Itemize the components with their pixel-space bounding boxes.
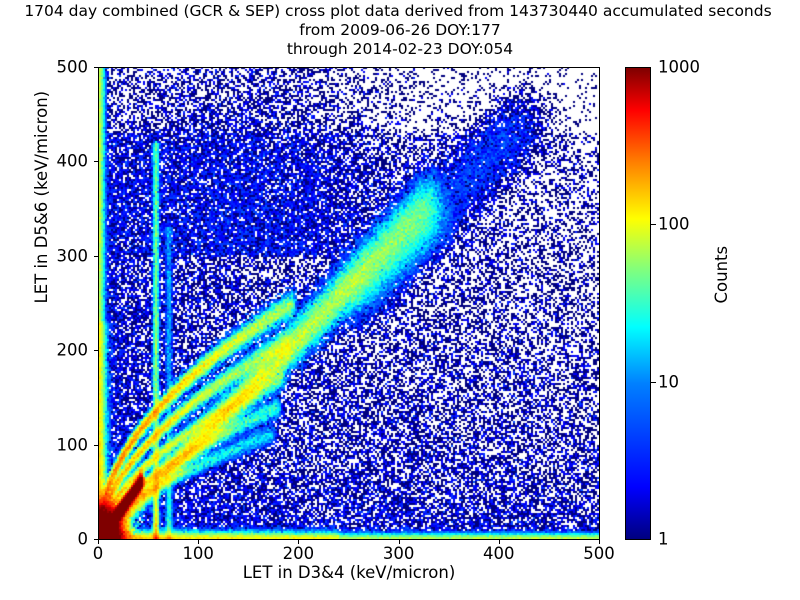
y-axis-label: LET in D5&6 (keV/micron)	[32, 91, 51, 304]
colorbar-tick-label: 100	[658, 215, 690, 234]
y-tick-mark	[94, 161, 99, 162]
title-line-2: from 2009-06-26 DOY:177	[0, 21, 800, 40]
x-tick-label: 500	[583, 544, 615, 563]
colorbar-tick-mark	[651, 224, 656, 225]
plot-area	[98, 67, 600, 540]
title-line-1: 1704 day combined (GCR & SEP) cross plot…	[0, 2, 800, 21]
colorbar-tick-mark	[651, 382, 656, 383]
y-tick-label: 200	[0, 341, 88, 360]
colorbar-tick-label: 10	[658, 372, 679, 391]
x-tick-label: 100	[182, 544, 214, 563]
colorbar-gradient	[625, 67, 651, 540]
figure-canvas: 1704 day combined (GCR & SEP) cross plot…	[0, 0, 800, 600]
y-tick-mark	[94, 67, 99, 68]
y-tick-mark	[94, 539, 99, 540]
x-axis-label: LET in D3&4 (keV/micron)	[98, 563, 600, 582]
let-cross-plot-heatmap	[99, 68, 599, 539]
y-tick-mark	[94, 256, 99, 257]
colorbar-tick-label: 1	[658, 530, 669, 549]
plot-title: 1704 day combined (GCR & SEP) cross plot…	[0, 2, 800, 59]
y-tick-label: 100	[0, 435, 88, 454]
x-tick-label: 0	[93, 544, 104, 563]
y-tick-mark	[94, 350, 99, 351]
colorbar	[625, 67, 651, 540]
y-tick-mark	[94, 445, 99, 446]
y-tick-label: 0	[0, 530, 88, 549]
colorbar-label: Counts	[712, 246, 731, 304]
y-tick-label: 500	[0, 58, 88, 77]
colorbar-tick-label: 1000	[658, 58, 700, 77]
x-tick-label: 200	[283, 544, 315, 563]
title-line-3: through 2014-02-23 DOY:054	[0, 40, 800, 59]
x-tick-label: 300	[383, 544, 415, 563]
x-tick-label: 400	[483, 544, 515, 563]
